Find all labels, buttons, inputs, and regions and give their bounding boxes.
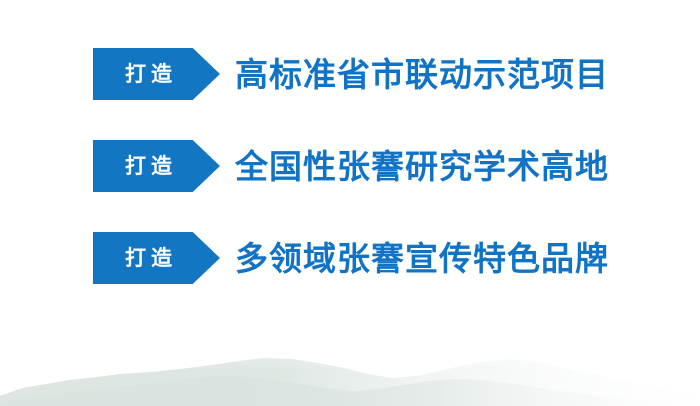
goal-list: 打造 高标准省市联动示范项目 打造 全国性张謇研究学术高地 打造 多领域张謇宣传… (0, 0, 700, 340)
badge-label-1: 打造 (120, 64, 177, 85)
headline-3: 多领域张謇宣传特色品牌 (235, 242, 609, 275)
badge-label-3: 打造 (120, 248, 177, 269)
headline-2: 全国性张謇研究学术高地 (235, 150, 609, 183)
badge-arrow-1: 打造 (93, 48, 220, 100)
badge-arrow-2: 打造 (93, 140, 220, 192)
goal-row-2: 打造 全国性张謇研究学术高地 (93, 140, 609, 192)
headline-1: 高标准省市联动示范项目 (235, 58, 609, 91)
goal-row-1: 打造 高标准省市联动示范项目 (93, 48, 609, 100)
mountain-silhouette (0, 336, 700, 406)
poster-canvas: 打造 高标准省市联动示范项目 打造 全国性张謇研究学术高地 打造 多领域张謇宣传… (0, 0, 700, 406)
goal-row-3: 打造 多领域张謇宣传特色品牌 (93, 232, 609, 284)
badge-label-2: 打造 (120, 156, 177, 177)
badge-arrow-3: 打造 (93, 232, 220, 284)
